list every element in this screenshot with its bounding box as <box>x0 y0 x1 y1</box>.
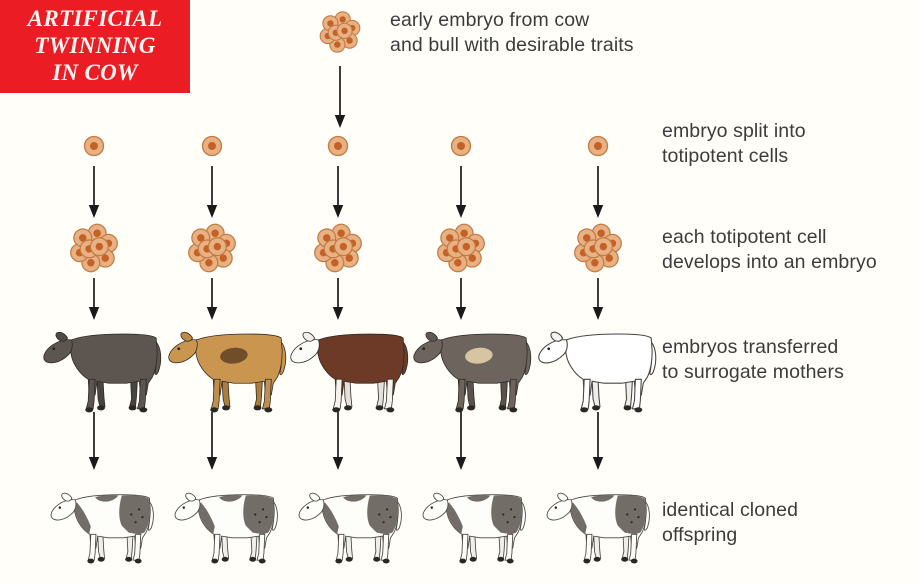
surrogate-cow-1 <box>38 318 166 413</box>
arrow-embryo-to-cow-3 <box>331 278 345 320</box>
arrow-source-to-split <box>333 66 347 128</box>
diagram-title-plate: ARTIFICIAL TWINNING IN COW <box>0 0 190 93</box>
totipotent-cell-1 <box>83 135 105 157</box>
offspring-calf-4 <box>418 478 530 570</box>
totipotent-cell-3 <box>327 135 349 157</box>
arrow-cell-to-embryo-3 <box>331 166 345 218</box>
surrogate-cow-2 <box>163 318 291 413</box>
totipotent-cell-2 <box>201 135 223 157</box>
surrogate-cow-3 <box>285 318 413 413</box>
caption-source-embryo: early embryo from cow and bull with desi… <box>390 8 634 58</box>
caption-cloned-offspring: identical cloned offspring <box>662 498 798 548</box>
arrow-cow-to-calf-1 <box>87 412 101 470</box>
totipotent-cell-4 <box>450 135 472 157</box>
arrow-cow-to-calf-4 <box>454 412 468 470</box>
developed-embryo-4 <box>434 221 488 275</box>
arrow-cow-to-calf-3 <box>331 412 345 470</box>
caption-embryo-split: embryo split into totipotent cells <box>662 119 806 169</box>
title-line-2: TWINNING <box>34 32 155 59</box>
caption-cell-develops: each totipotent cell develops into an em… <box>662 225 877 275</box>
offspring-calf-2 <box>170 478 282 570</box>
surrogate-cow-5 <box>533 318 661 413</box>
developed-embryo-5 <box>571 221 625 275</box>
arrow-embryo-to-cow-1 <box>87 278 101 320</box>
arrow-cell-to-embryo-5 <box>591 166 605 218</box>
arrow-cow-to-calf-5 <box>591 412 605 470</box>
offspring-calf-5 <box>542 478 654 570</box>
arrow-cell-to-embryo-4 <box>454 166 468 218</box>
totipotent-cell-5 <box>587 135 609 157</box>
artificial-twinning-diagram: ARTIFICIAL TWINNING IN COW early embryo … <box>0 0 919 584</box>
developed-embryo-2 <box>185 221 239 275</box>
arrow-cell-to-embryo-1 <box>87 166 101 218</box>
arrow-embryo-to-cow-2 <box>205 278 219 320</box>
surrogate-cow-4 <box>408 318 536 413</box>
title-line-1: ARTIFICIAL <box>28 5 163 32</box>
arrow-cow-to-calf-2 <box>205 412 219 470</box>
arrow-embryo-to-cow-5 <box>591 278 605 320</box>
developed-embryo-3 <box>311 221 365 275</box>
developed-embryo-1 <box>67 221 121 275</box>
offspring-calf-1 <box>46 478 158 570</box>
caption-embryo-transfer: embryos transferred to surrogate mothers <box>662 335 844 385</box>
arrow-cell-to-embryo-2 <box>205 166 219 218</box>
source-embryo <box>317 9 363 55</box>
arrow-embryo-to-cow-4 <box>454 278 468 320</box>
title-line-3: IN COW <box>52 59 138 86</box>
offspring-calf-3 <box>294 478 406 570</box>
